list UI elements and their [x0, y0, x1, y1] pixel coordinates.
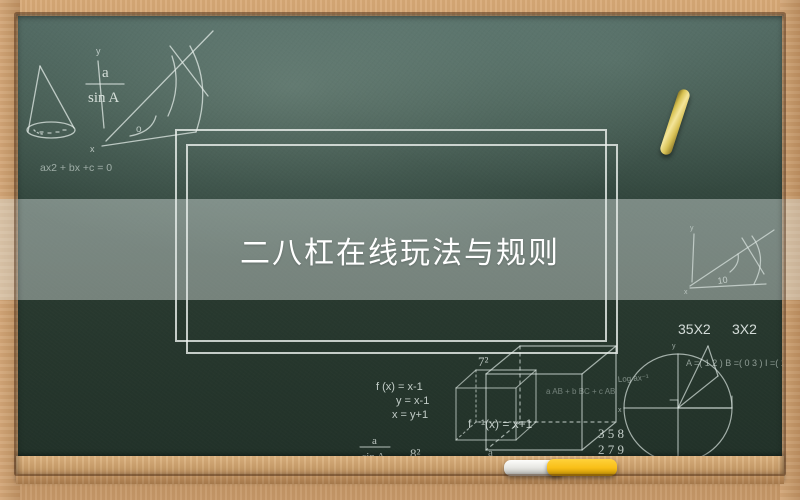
svg-text:y: y [672, 343, 676, 350]
circle-axes-diagram: y x [618, 343, 732, 456]
fraction-a-sin-a: a sin A [88, 65, 119, 106]
cone-shape [27, 66, 75, 138]
function-x: x = y+1 [392, 409, 428, 421]
function-y: y = x-1 [396, 395, 429, 407]
svg-text:o: o [136, 124, 142, 135]
title-band: 二八杠在线玩法与规则 [0, 199, 800, 300]
svg-text:a: a [372, 435, 377, 447]
log-label: Log ax⁻¹ [618, 373, 650, 384]
multiply-35x2: 35X2 [678, 321, 711, 337]
multiply-3x2: 3X2 [732, 321, 757, 337]
page-title: 二八杠在线玩法与规则 [240, 228, 560, 272]
eight-squared: 8² [410, 446, 421, 456]
quadratic-equation: ax2 + bx +c = 0 [40, 162, 112, 174]
svg-text:a: a [488, 447, 493, 456]
svg-text:sin A: sin A [88, 90, 119, 106]
long-division-row1: 3 5 8 [598, 426, 624, 441]
svg-text:x: x [90, 144, 95, 154]
function-f-x: f (x) = x-1 [376, 381, 423, 393]
svg-text:y: y [96, 46, 101, 56]
yellow-chalk-stick [659, 88, 691, 156]
inverse-function: f ⁻¹(x) = x+1 [468, 417, 533, 431]
svg-text:x: x [618, 407, 622, 414]
svg-text:a: a [102, 65, 109, 81]
cube-wireframe-right [486, 346, 616, 450]
chalk-ledge [16, 456, 784, 484]
chalkboard-title-card: a sin A ax2 + bx +c = 0 y x o [0, 0, 800, 500]
long-division-row2: 2 7 9 [598, 442, 624, 456]
matrix-row: A =( 1 2 ) B =( 0 3 ) I =( 1 0 ) [686, 358, 782, 368]
faint-formula-ab-bc: a AB + b BC + c AB [546, 387, 615, 396]
cube-wireframe-left [456, 370, 536, 440]
seven-squared: 7² [478, 354, 489, 369]
yellow-chalk-piece [547, 459, 617, 476]
